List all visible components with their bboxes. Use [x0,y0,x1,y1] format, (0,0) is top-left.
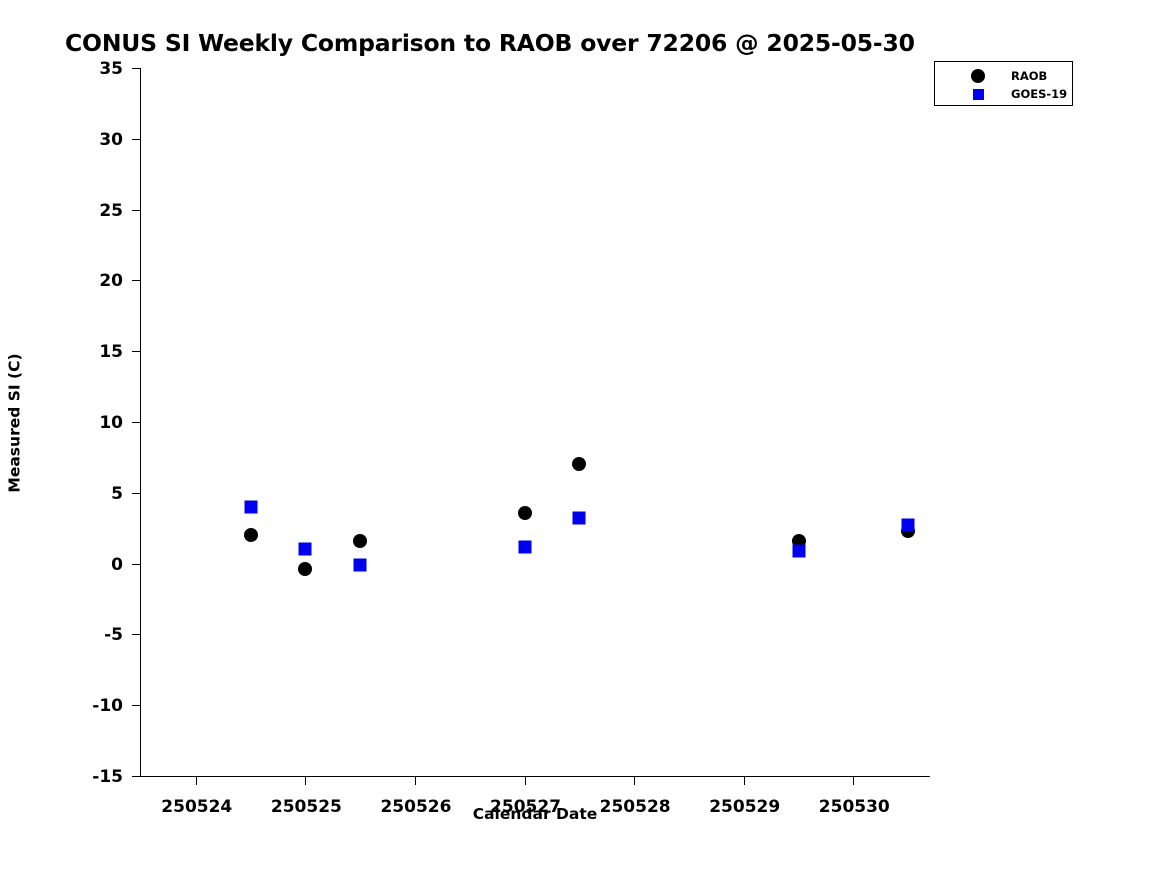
data-point-raob [244,528,258,542]
x-axis-tick: 250529 [744,776,745,785]
data-point-goes-19 [902,519,915,532]
data-point-goes-19 [573,512,586,525]
x-axis-tick: 250527 [525,776,526,785]
page-title: CONUS SI Weekly Comparison to RAOB over … [65,29,915,57]
data-point-goes-19 [354,559,367,572]
data-point-goes-19 [299,543,312,556]
y-axis-tick: 0 [132,564,141,565]
x-axis-label: Calendar Date [140,805,930,823]
plot-area: 35302520151050-5-10-15250524250525250526… [140,68,930,777]
y-axis-tick: 10 [132,422,141,423]
data-point-raob [518,506,532,520]
y-axis-tick: 30 [132,139,141,140]
y-axis-tick: -5 [132,634,141,635]
legend-item-raob: RAOB [935,67,1072,85]
y-axis-tick-label: 30 [99,130,123,150]
y-axis-tick: 20 [132,280,141,281]
data-point-goes-19 [244,500,257,513]
y-axis-tick-label: 5 [111,484,123,504]
x-axis-tick: 250526 [415,776,416,785]
y-axis-tick: 5 [132,493,141,494]
goes19-square-icon [961,89,995,100]
y-axis-tick: -10 [132,705,141,706]
data-point-goes-19 [518,540,531,553]
y-axis-tick-label: -10 [92,696,123,716]
x-axis-tick: 250530 [853,776,854,785]
x-axis-tick: 250528 [634,776,635,785]
raob-circle-icon [961,69,995,83]
y-axis-tick: 15 [132,351,141,352]
y-axis-tick-label: -5 [104,625,123,645]
y-axis-label: Measured SI (C) [0,68,30,777]
legend-label-raob: RAOB [1011,69,1047,83]
y-axis-label-text: Measured SI (C) [6,353,24,492]
x-axis-tick: 250524 [196,776,197,785]
data-point-raob [353,534,367,548]
y-axis-tick: -15 [132,776,141,777]
y-axis-tick-label: 10 [99,413,123,433]
legend-item-goes19: GOES-19 [935,85,1072,103]
y-axis-tick: 35 [132,68,141,69]
y-axis-tick-label: -15 [92,767,123,787]
y-axis-tick: 25 [132,210,141,211]
legend-label-goes19: GOES-19 [1011,87,1067,101]
y-axis-tick-label: 35 [99,59,123,79]
x-axis-tick: 250525 [305,776,306,785]
data-point-raob [298,562,312,576]
chart-page: CONUS SI Weekly Comparison to RAOB over … [0,0,1167,875]
data-point-raob [572,457,586,471]
y-axis-tick-label: 15 [99,342,123,362]
y-axis-tick-label: 0 [111,555,123,575]
y-axis-tick-label: 25 [99,201,123,221]
data-point-goes-19 [792,544,805,557]
plot-inner [141,68,930,776]
y-axis-tick-label: 20 [99,271,123,291]
chart-legend: RAOB GOES-19 [934,61,1073,106]
